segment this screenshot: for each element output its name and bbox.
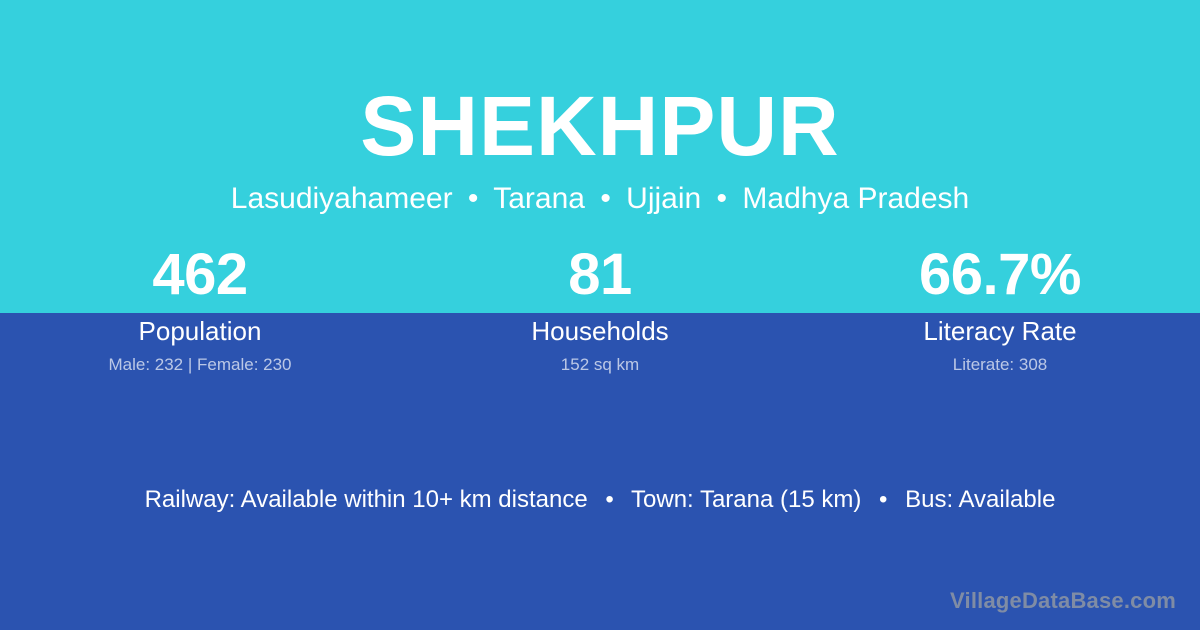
breadcrumb-separator: • xyxy=(710,182,735,215)
page-title: SHEKHPUR xyxy=(0,78,1200,174)
stat-label: Population xyxy=(0,316,400,346)
amenity-separator: • xyxy=(594,486,624,513)
breadcrumb-separator: • xyxy=(593,182,618,215)
stat-literacy-rate: 66.7% Literacy Rate Literate: 308 xyxy=(800,240,1200,375)
breadcrumb-item-state: Madhya Pradesh xyxy=(742,182,969,215)
village-info-card: SHEKHPUR Lasudiyahameer • Tarana • Ujjai… xyxy=(0,0,1200,630)
amenity-bus: Bus: Available xyxy=(905,486,1055,513)
stat-value: 81 xyxy=(400,240,800,310)
breadcrumb: Lasudiyahameer • Tarana • Ujjain • Madhy… xyxy=(0,178,1200,220)
stat-households: 81 Households 152 sq km xyxy=(400,240,800,375)
stats-row: 462 Population Male: 232 | Female: 230 8… xyxy=(0,240,1200,375)
stat-detail: Male: 232 | Female: 230 xyxy=(0,355,400,375)
site-watermark: VillageDataBase.com xyxy=(950,588,1176,614)
breadcrumb-separator: • xyxy=(461,182,486,215)
breadcrumb-item-village: Lasudiyahameer xyxy=(231,182,453,215)
amenities-line: Railway: Available within 10+ km distanc… xyxy=(0,486,1200,514)
stat-label: Literacy Rate xyxy=(800,316,1200,346)
breadcrumb-item-tehsil: Tarana xyxy=(493,182,585,215)
amenity-town: Town: Tarana (15 km) xyxy=(631,486,861,513)
stat-label: Households xyxy=(400,316,800,346)
stat-value: 66.7% xyxy=(800,240,1200,310)
breadcrumb-item-district: Ujjain xyxy=(626,182,701,215)
stat-value: 462 xyxy=(0,240,400,310)
amenity-railway: Railway: Available within 10+ km distanc… xyxy=(145,486,588,513)
stat-detail: Literate: 308 xyxy=(800,355,1200,375)
stat-detail: 152 sq km xyxy=(400,355,800,375)
stat-population: 462 Population Male: 232 | Female: 230 xyxy=(0,240,400,375)
amenity-separator: • xyxy=(868,486,898,513)
